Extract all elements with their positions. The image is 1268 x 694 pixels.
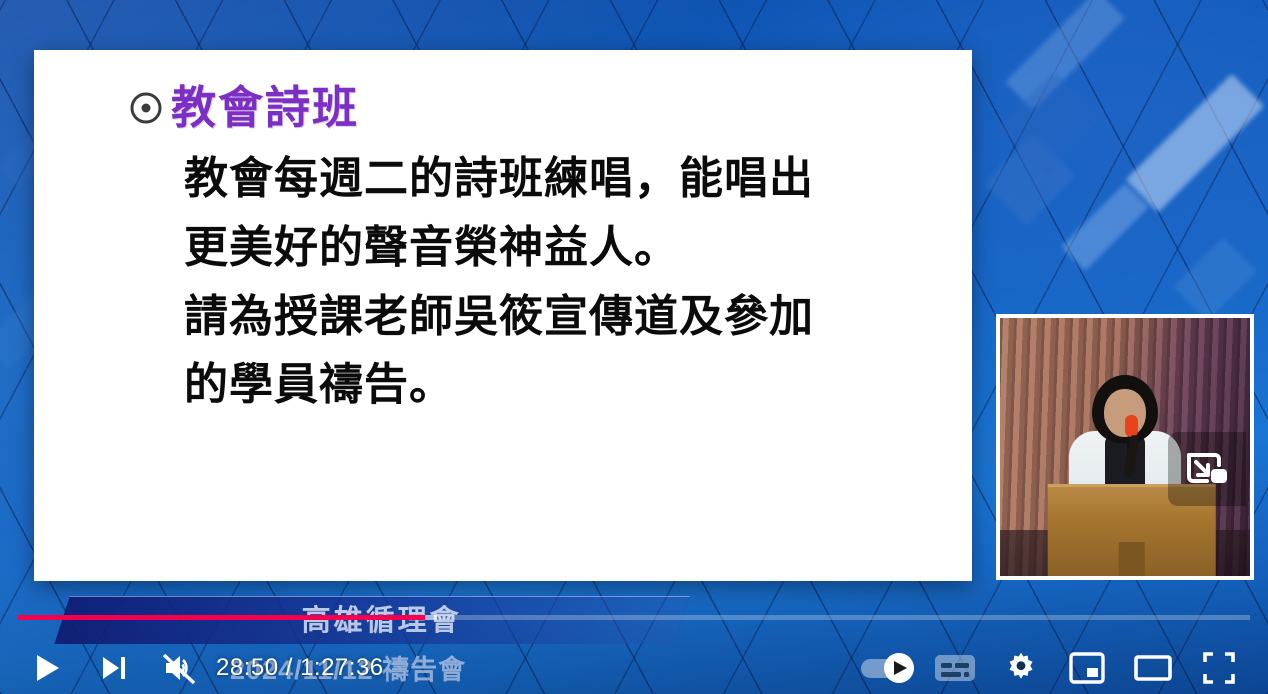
slide-title-row: 教會詩班 xyxy=(130,84,932,131)
next-icon xyxy=(98,653,128,683)
presentation-slide: 教會詩班 教會每週二的詩班練唱，能唱出 更美好的聲音榮神益人。 請為授課老師吳筱… xyxy=(34,50,972,581)
theater-mode-icon xyxy=(1134,653,1172,683)
play-pause-button[interactable] xyxy=(14,642,80,694)
expand-pip-icon xyxy=(1185,449,1229,489)
slide-body-line: 更美好的聲音榮神益人。 xyxy=(184,214,932,283)
gear-icon xyxy=(1003,650,1039,686)
subtitles-icon xyxy=(933,651,977,685)
banner-title: 高雄循理會 xyxy=(82,597,682,644)
miniplayer-button[interactable] xyxy=(1054,642,1120,694)
subtitles-button[interactable] xyxy=(922,642,988,694)
fullscreen-icon xyxy=(1202,651,1236,685)
lower-third-banner: 高雄循理會 xyxy=(54,596,690,644)
controls-right xyxy=(856,642,1268,694)
slide-body-line: 教會每週二的詩班練唱，能唱出 xyxy=(184,145,932,214)
pip-microphone xyxy=(1125,415,1138,437)
slide-title: 教會詩班 xyxy=(171,84,359,131)
slide-body-line: 的學員禱告。 xyxy=(184,351,932,420)
next-video-button[interactable] xyxy=(80,642,146,694)
player-controls[interactable]: 28:50 / 1:27:36 xyxy=(0,642,1268,694)
progress-bar[interactable] xyxy=(18,615,1250,620)
controls-left: 28:50 / 1:27:36 xyxy=(0,642,394,694)
slide-body: 教會每週二的詩班練唱，能唱出 更美好的聲音榮神益人。 請為授課老師吳筱宣傳道及參… xyxy=(184,145,932,420)
speaker-pip-thumbnail[interactable] xyxy=(996,314,1254,580)
video-player[interactable]: 教會詩班 教會每週二的詩班練唱，能唱出 更美好的聲音榮神益人。 請為授課老師吳筱… xyxy=(0,0,1268,694)
autoplay-toggle-button[interactable] xyxy=(856,642,922,694)
volume-muted-icon xyxy=(161,650,197,686)
progress-played xyxy=(18,615,425,620)
autoplay-toggle-icon xyxy=(859,651,919,685)
target-bullet-icon xyxy=(130,92,162,124)
fullscreen-button[interactable] xyxy=(1186,642,1252,694)
time-display: 28:50 / 1:27:36 xyxy=(212,654,394,682)
theater-mode-button[interactable] xyxy=(1120,642,1186,694)
settings-button[interactable] xyxy=(988,642,1054,694)
slide-body-line: 請為授課老師吳筱宣傳道及參加 xyxy=(184,283,932,352)
mute-button[interactable] xyxy=(146,642,212,694)
play-icon xyxy=(30,651,64,685)
miniplayer-icon xyxy=(1069,652,1105,684)
pip-expand-button[interactable] xyxy=(1168,432,1246,506)
